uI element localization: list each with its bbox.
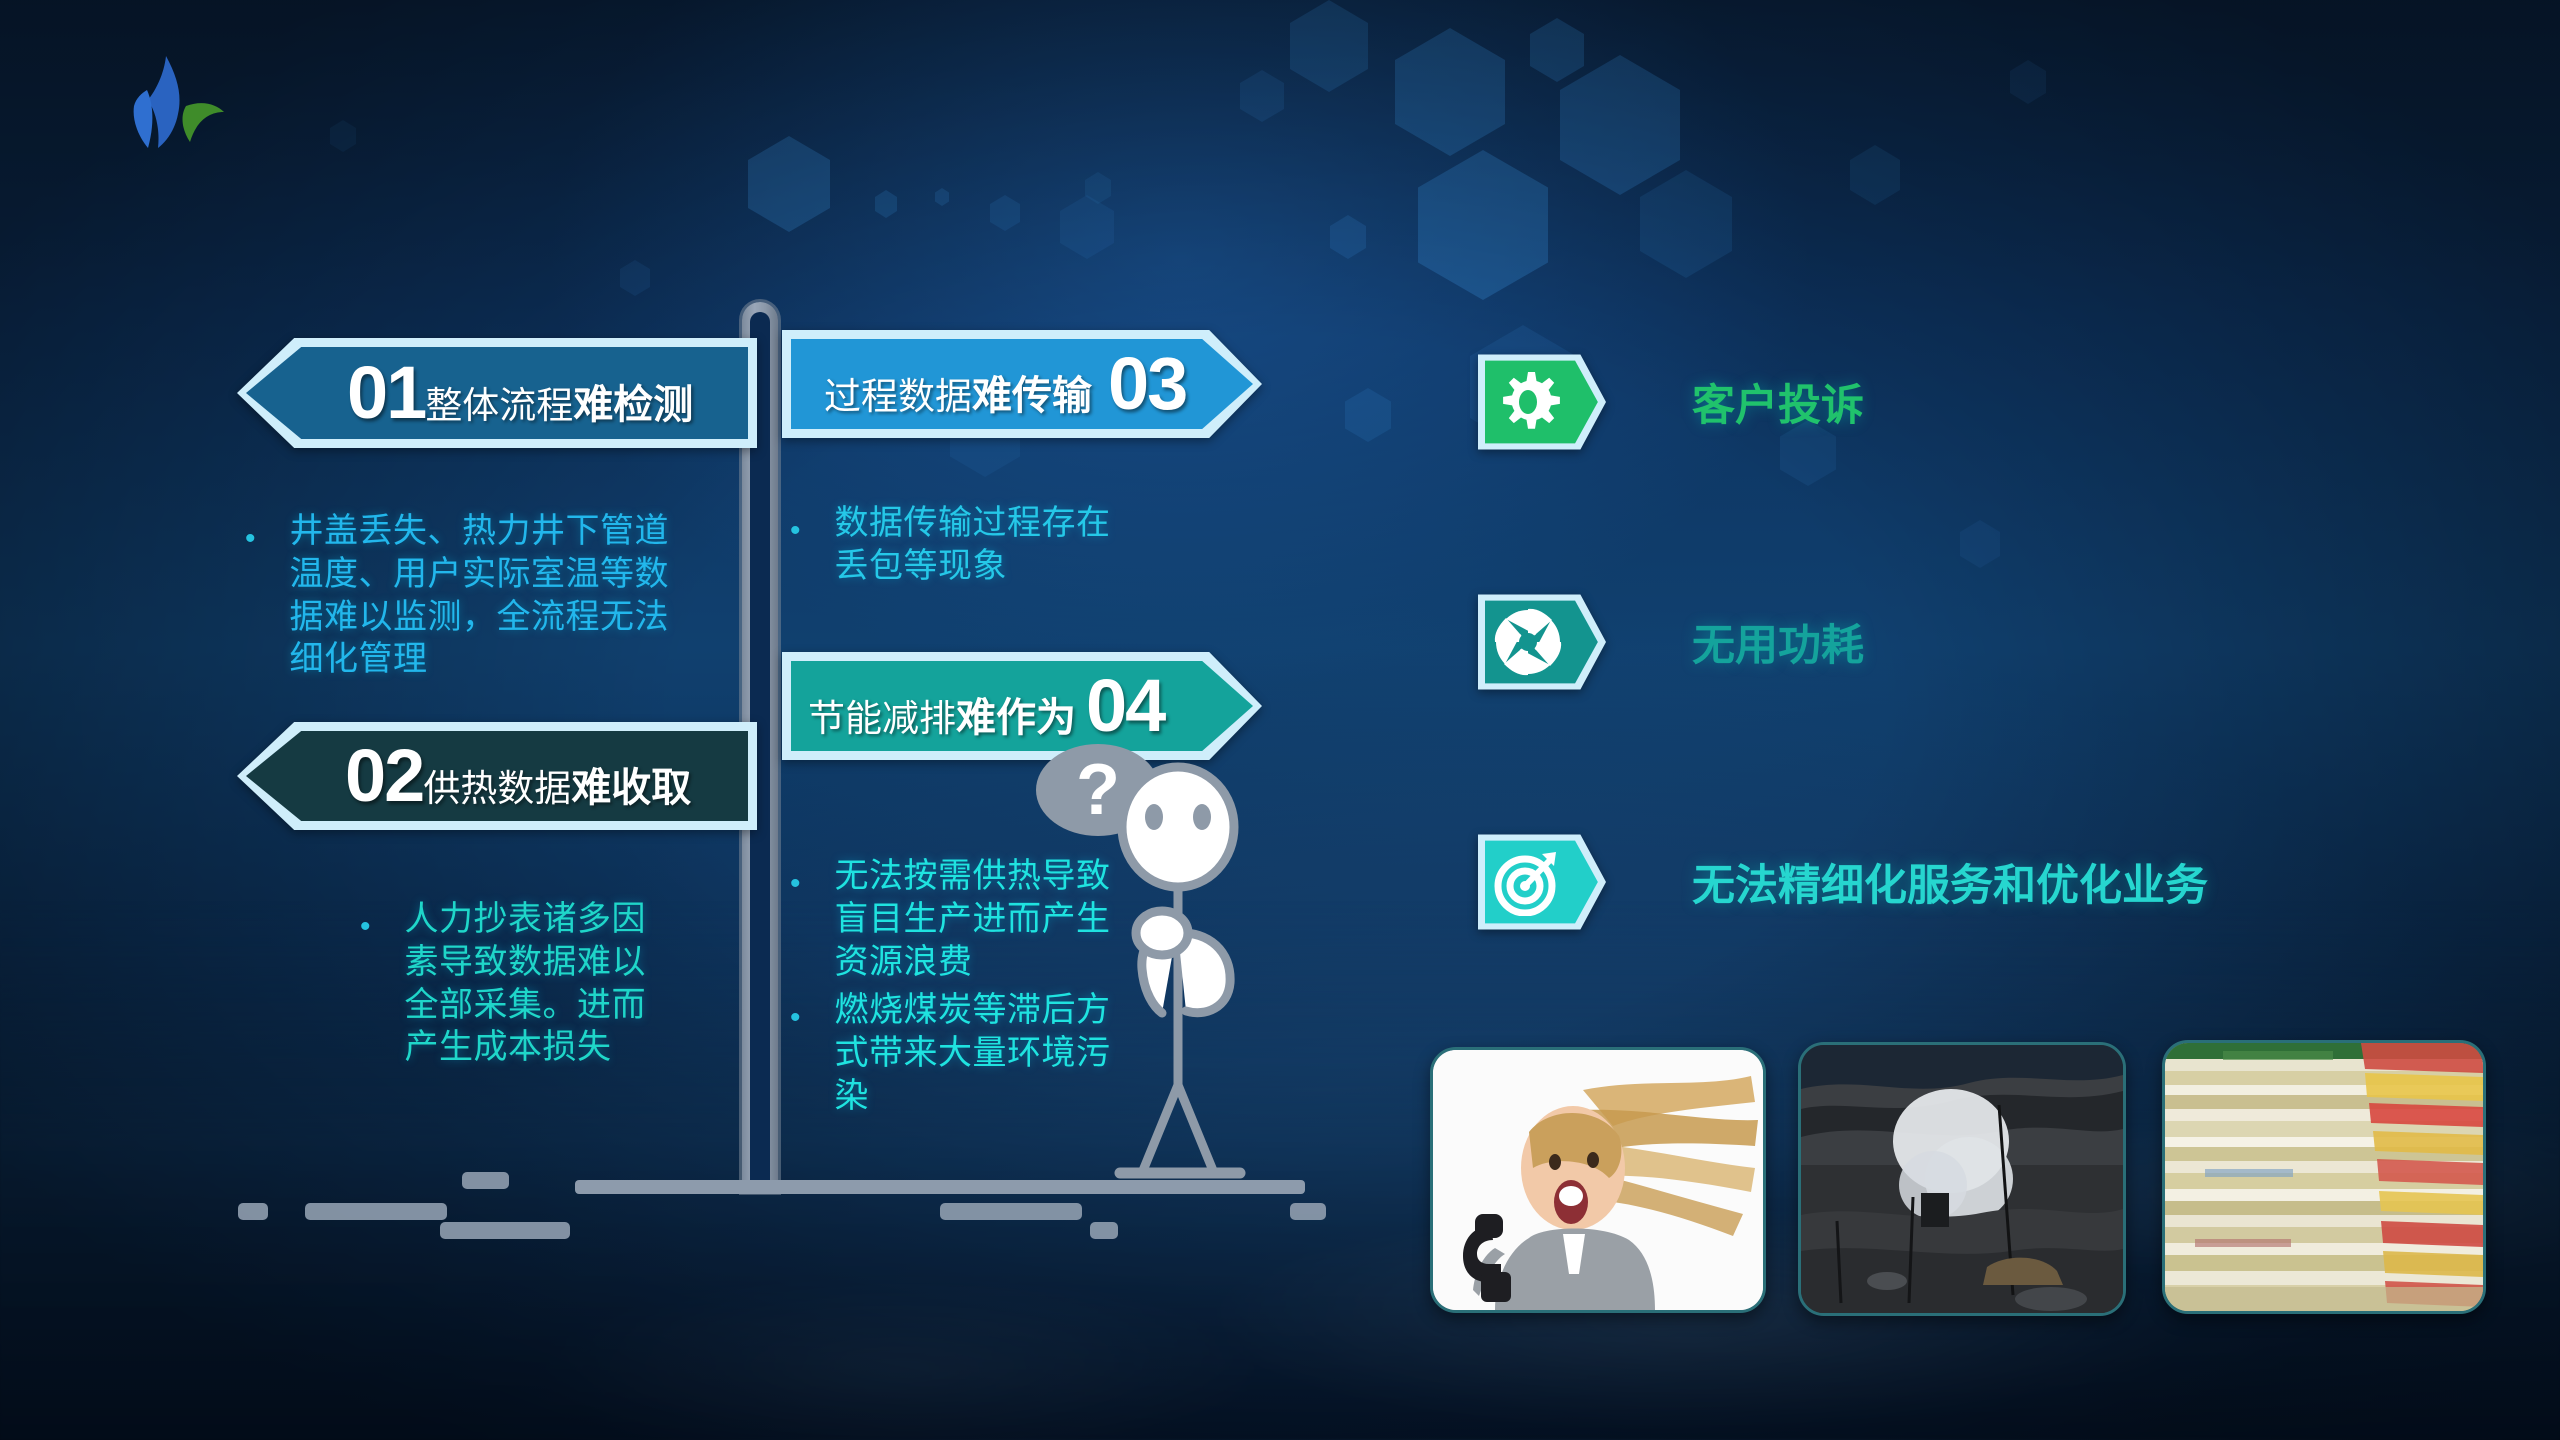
signpost-banner-04[interactable]: 节能减排难作为 04 [782,652,1262,760]
slide-canvas: 01 整体流程难检测 • 井盖丢失、热力井下管道温度、用户实际室温等数据难以监测… [0,0,2560,1440]
banner-number: 04 [1086,669,1164,743]
bullet-text: 无法按需供热导致盲目生产进而产生资源浪费 [835,855,1120,983]
target-icon [1494,848,1562,916]
banner-number: 02 [345,739,423,813]
banner-label: 供热数据难收取 [423,755,691,813]
consequence-item-no-refined-service[interactable]: 无法精细化服务和优化业务 [1478,828,2208,936]
banner-label: 过程数据难传输 [824,363,1092,421]
banner-label: 整体流程难检测 [425,372,693,430]
banner-label-bold: 难传输 [972,374,1092,418]
list-item: • 数据传输过程存在丢包等现象 [790,502,1130,588]
photo-industrial-smoke-pollution[interactable] [1798,1042,2126,1316]
consequence-icon-badge [1478,348,1606,456]
banner-label-bold: 难作为 [956,696,1076,740]
flame-leaf-logo [120,52,230,152]
consequence-item-customer-complaint[interactable]: 客户投诉 [1478,348,1864,456]
consequence-item-wasted-power[interactable]: 无用功耗 [1478,588,1864,696]
bullet-dot-icon: • [790,516,801,546]
bullet-dot-icon: • [360,912,371,942]
thinking-person-figure [1090,755,1270,1185]
photo-stacked-paper-documents[interactable] [2162,1040,2486,1314]
banner-label-plain: 节能减排 [808,698,956,739]
gear-icon [1494,368,1562,436]
bullet-group-01: • 井盖丢失、热力井下管道温度、用户实际室温等数据难以监测，全流程无法细化管理 [245,510,695,687]
banner-label-plain: 供热数据 [423,768,571,809]
bullet-group-02: • 人力抄表诸多因素导致数据难以全部采集。进而产生成本损失 [360,898,670,1075]
consequence-label: 无用功耗 [1692,611,1864,673]
banner-label-bold: 难收取 [571,766,691,810]
signpost-banner-02[interactable]: 02 供热数据难收取 [237,722,757,830]
consequence-label: 客户投诉 [1692,371,1864,433]
consequence-icon-badge [1478,588,1606,696]
consequence-label: 无法精细化服务和优化业务 [1692,851,2208,913]
banner-number: 03 [1108,347,1186,421]
banner-number: 01 [347,356,425,430]
list-item: • 无法按需供热导致盲目生产进而产生资源浪费 [790,855,1120,983]
list-item: • 井盖丢失、热力井下管道温度、用户实际室温等数据难以监测，全流程无法细化管理 [245,510,695,681]
signpost-banner-01[interactable]: 01 整体流程难检测 [237,338,757,448]
banner-label-plain: 过程数据 [824,376,972,417]
banner-label-plain: 整体流程 [425,385,573,426]
banner-label-bold: 难检测 [573,383,693,427]
bullet-dot-icon: • [245,524,256,554]
banner-label: 节能减排难作为 [808,685,1076,743]
bullet-text: 燃烧煤炭等滞后方式带来大量环境污染 [835,989,1120,1117]
bullet-text: 人力抄表诸多因素导致数据难以全部采集。进而产生成本损失 [405,898,670,1069]
aperture-icon [1494,608,1562,676]
bullet-text: 数据传输过程存在丢包等现象 [835,502,1130,588]
bullet-group-03: • 数据传输过程存在丢包等现象 [790,502,1130,594]
consequence-icon-badge [1478,828,1606,936]
bullet-dot-icon: • [790,869,801,899]
bullet-group-04: • 无法按需供热导致盲目生产进而产生资源浪费 • 燃烧煤炭等滞后方式带来大量环境… [790,855,1120,1124]
signpost-banner-03[interactable]: 过程数据难传输 03 [782,330,1262,438]
list-item: • 人力抄表诸多因素导致数据难以全部采集。进而产生成本损失 [360,898,670,1069]
photo-angry-customer-on-phone[interactable] [1430,1047,1766,1313]
bullet-dot-icon: • [790,1003,801,1033]
list-item: • 燃烧煤炭等滞后方式带来大量环境污染 [790,989,1120,1117]
bullet-text: 井盖丢失、热力井下管道温度、用户实际室温等数据难以监测，全流程无法细化管理 [290,510,695,681]
